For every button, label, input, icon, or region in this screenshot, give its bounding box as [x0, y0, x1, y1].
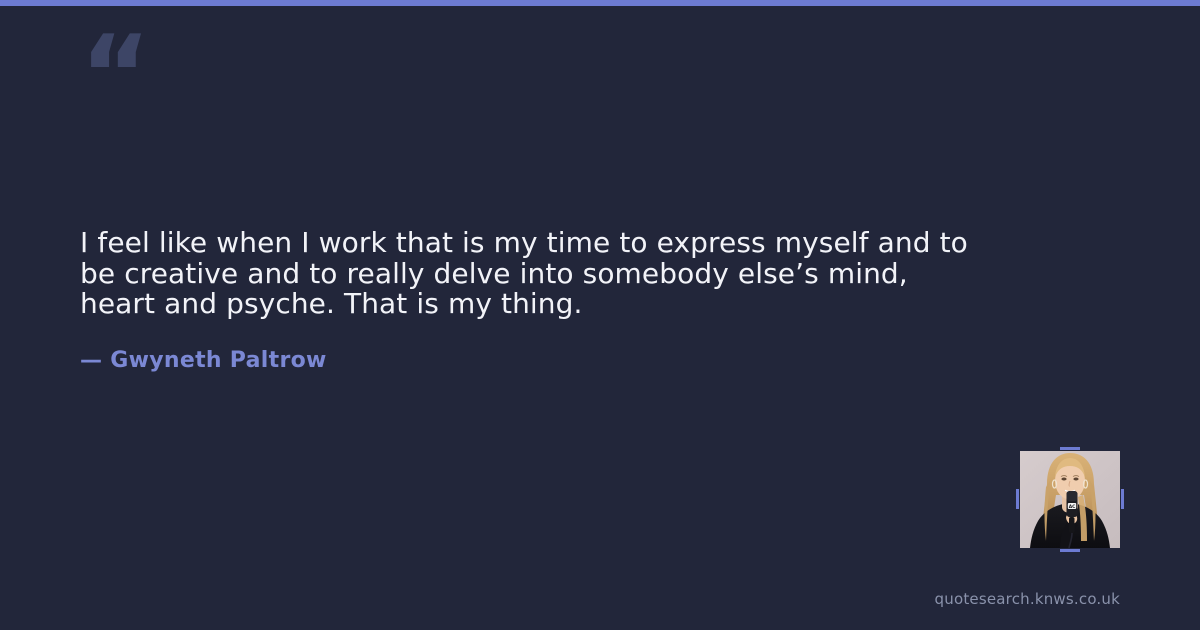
svg-text:AC: AC — [1069, 504, 1076, 510]
crop-handle-left-icon[interactable] — [1016, 489, 1019, 509]
quote-attribution: — Gwyneth Paltrow — [80, 348, 327, 373]
source-url: quotesearch.knws.co.uk — [935, 590, 1120, 608]
crop-handle-bottom-icon[interactable] — [1060, 549, 1080, 552]
crop-handle-top-icon[interactable] — [1060, 447, 1080, 450]
quote-text: I feel like when I work that is my time … — [80, 228, 980, 320]
quote-body: I feel like when I work that is my time … — [80, 228, 980, 320]
quote-card: “ I feel like when I work that is my tim… — [0, 0, 1200, 630]
quotation-mark-icon: “ — [80, 22, 149, 130]
author-photo: AC — [1020, 451, 1120, 548]
crop-handle-right-icon[interactable] — [1121, 489, 1124, 509]
top-accent-bar — [0, 0, 1200, 6]
author-thumbnail[interactable]: AC — [1020, 451, 1120, 548]
